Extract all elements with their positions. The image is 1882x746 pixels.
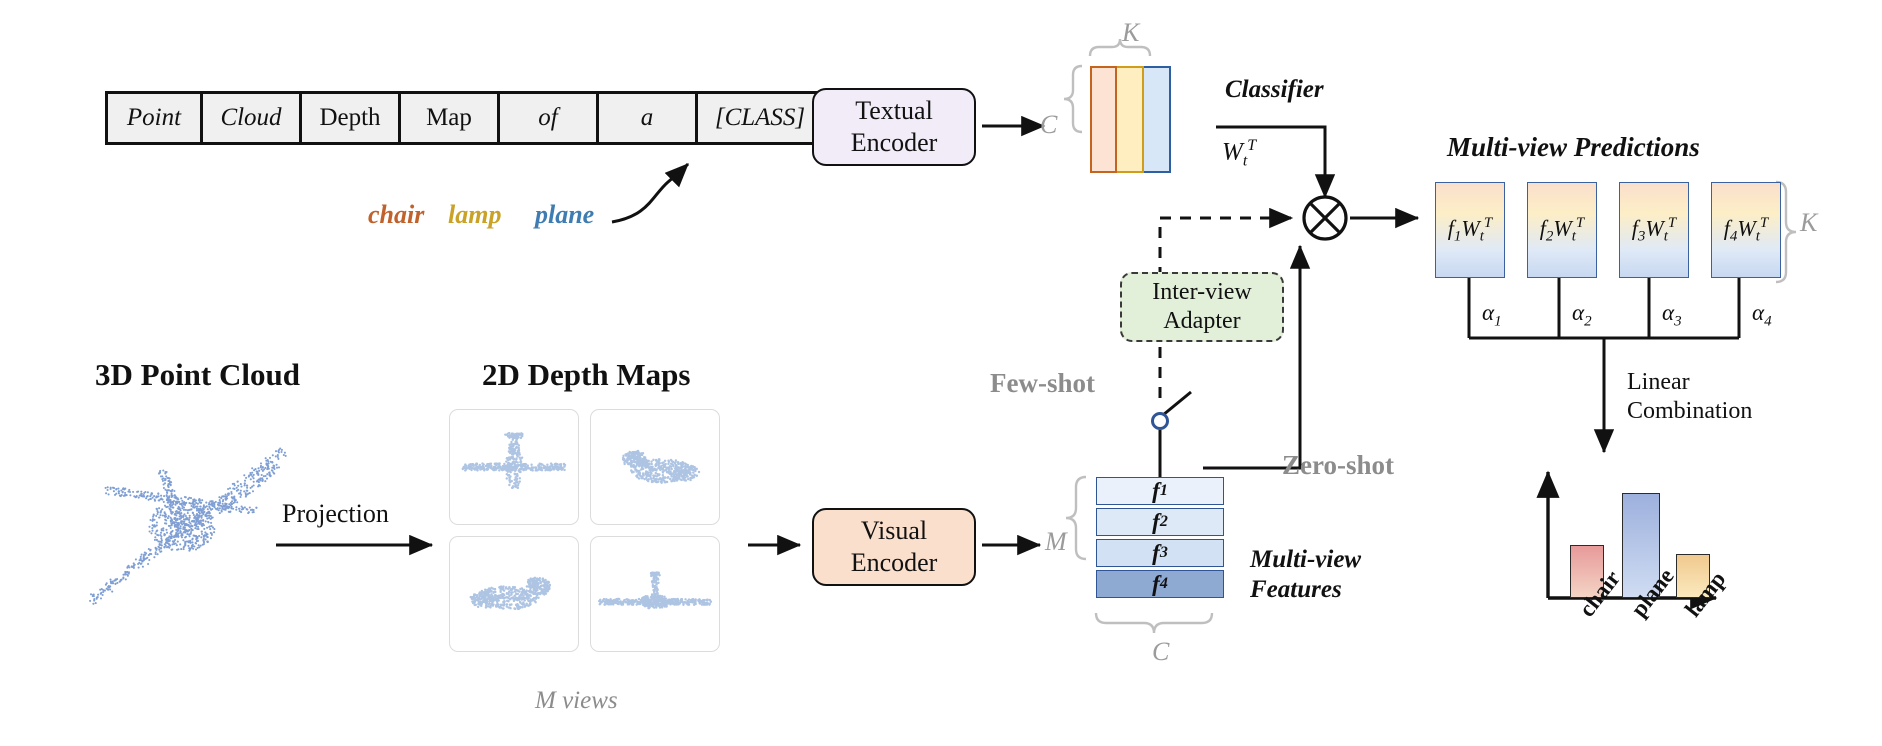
prediction-box: f1WtT <box>1435 182 1505 278</box>
mv-features-line1: Multi-view <box>1250 545 1361 575</box>
pred-w-sup: T <box>1484 215 1492 231</box>
inter-view-adapter-box[interactable]: Inter-view Adapter <box>1120 272 1284 342</box>
pred-w: W <box>1553 215 1571 240</box>
alpha-weight-4: α4 <box>1752 300 1772 331</box>
predictions-dim-k-label: K <box>1800 208 1817 238</box>
depth-map-grid <box>449 409 720 652</box>
feature-symbol: f <box>1152 478 1160 504</box>
feature-symbol: f <box>1152 571 1160 597</box>
point-cloud-title: 3D Point Cloud <box>95 357 300 393</box>
feature-symbol: f <box>1152 540 1160 566</box>
weights-superscript: T <box>1247 137 1256 154</box>
projection-label: Projection <box>282 499 389 529</box>
multi-view-predictions-title: Multi-view Predictions <box>1447 132 1700 163</box>
alpha-index: 3 <box>1674 314 1682 330</box>
feature-row: f4 <box>1096 570 1224 598</box>
feature-index: 4 <box>1160 575 1168 593</box>
classifier-weights-label: WtT <box>1222 137 1256 170</box>
prompt-template-row: Point Cloud Depth Map of a [CLASS] <box>105 91 825 145</box>
pred-w-sup: T <box>1576 215 1584 231</box>
point-cloud-illustration <box>70 430 295 610</box>
alpha-weight-1: α1 <box>1482 300 1502 331</box>
features-dim-m-label: M <box>1045 527 1067 557</box>
prompt-token[interactable]: Depth <box>302 94 401 142</box>
zero-shot-label: Zero-shot <box>1282 450 1394 481</box>
classifier-label: Classifier <box>1225 76 1324 104</box>
prediction-box: f4WtT <box>1711 182 1781 278</box>
class-word-plane[interactable]: plane <box>535 200 594 230</box>
few-shot-label: Few-shot <box>990 368 1095 399</box>
visual-encoder-line1: Visual <box>861 515 927 547</box>
classifier-column-lamp <box>1117 66 1144 173</box>
feature-row: f1 <box>1096 477 1224 505</box>
textual-encoder-box[interactable]: Textual Encoder <box>812 88 976 166</box>
feature-index: 1 <box>1160 482 1168 500</box>
visual-encoder-line2: Encoder <box>851 547 938 579</box>
linear-combination-line2: Combination <box>1627 397 1752 426</box>
textual-encoder-line1: Textual <box>855 95 933 127</box>
m-views-label: M views <box>535 687 618 715</box>
linear-combination-label: Linear Combination <box>1627 368 1752 427</box>
alpha-symbol: α <box>1752 300 1764 325</box>
prompt-token[interactable]: Cloud <box>203 94 302 142</box>
features-dim-c-label: C <box>1152 637 1169 667</box>
multi-view-feature-stack: f1 f2 f3 f4 <box>1096 477 1224 598</box>
multi-view-predictions-row: f1WtT f2WtT f3WtT f4WtT <box>1435 182 1781 278</box>
alpha-symbol: α <box>1482 300 1494 325</box>
pred-w: W <box>1461 215 1479 240</box>
classifier-dim-k-label: K <box>1122 18 1139 48</box>
adapter-line1: Inter-view <box>1152 278 1251 307</box>
visual-encoder-box[interactable]: Visual Encoder <box>812 508 976 586</box>
pred-w-sup: T <box>1668 215 1676 231</box>
alpha-index: 4 <box>1764 314 1772 330</box>
classifier-column-plane <box>1144 66 1171 173</box>
feature-row: f2 <box>1096 508 1224 536</box>
alpha-weight-3: α3 <box>1662 300 1682 331</box>
pred-w-sup: T <box>1760 215 1768 231</box>
depth-maps-title: 2D Depth Maps <box>482 357 690 393</box>
alpha-index: 2 <box>1584 314 1592 330</box>
pred-w: W <box>1737 215 1755 240</box>
weights-subscript: t <box>1243 152 1247 169</box>
prompt-token-class-slot[interactable]: [CLASS] <box>698 94 822 142</box>
linear-combination-line1: Linear <box>1627 368 1752 397</box>
alpha-weight-2: α2 <box>1572 300 1592 331</box>
depth-map-tile-4[interactable] <box>590 536 720 652</box>
classifier-column-chair <box>1090 66 1117 173</box>
prediction-box: f3WtT <box>1619 182 1689 278</box>
prompt-token[interactable]: Point <box>108 94 203 142</box>
adapter-line2: Adapter <box>1163 307 1240 336</box>
text-classifier-matrix <box>1090 66 1171 173</box>
alpha-symbol: α <box>1572 300 1584 325</box>
prompt-token[interactable]: a <box>599 94 698 142</box>
prediction-box: f2WtT <box>1527 182 1597 278</box>
feature-index: 3 <box>1160 544 1168 562</box>
alpha-index: 1 <box>1494 314 1502 330</box>
alpha-symbol: α <box>1662 300 1674 325</box>
classifier-dim-c-label: C <box>1040 110 1057 140</box>
prediction-bar-chart <box>1536 468 1716 598</box>
class-word-lamp[interactable]: lamp <box>448 200 501 230</box>
depth-map-tile-3[interactable] <box>449 536 579 652</box>
depth-map-tile-1[interactable] <box>449 409 579 525</box>
textual-encoder-line2: Encoder <box>851 127 938 159</box>
depth-map-tile-2[interactable] <box>590 409 720 525</box>
feature-row: f3 <box>1096 539 1224 567</box>
prompt-token[interactable]: of <box>500 94 599 142</box>
mv-features-line2: Features <box>1250 575 1361 605</box>
diagram-canvas: Point Cloud Depth Map of a [CLASS] chair… <box>0 0 1882 746</box>
weights-symbol: W <box>1222 138 1243 165</box>
multi-view-features-caption: Multi-view Features <box>1250 545 1361 604</box>
feature-index: 2 <box>1160 513 1168 531</box>
pred-w: W <box>1645 215 1663 240</box>
class-word-chair[interactable]: chair <box>368 200 424 230</box>
feature-symbol: f <box>1152 509 1160 535</box>
prompt-token[interactable]: Map <box>401 94 500 142</box>
